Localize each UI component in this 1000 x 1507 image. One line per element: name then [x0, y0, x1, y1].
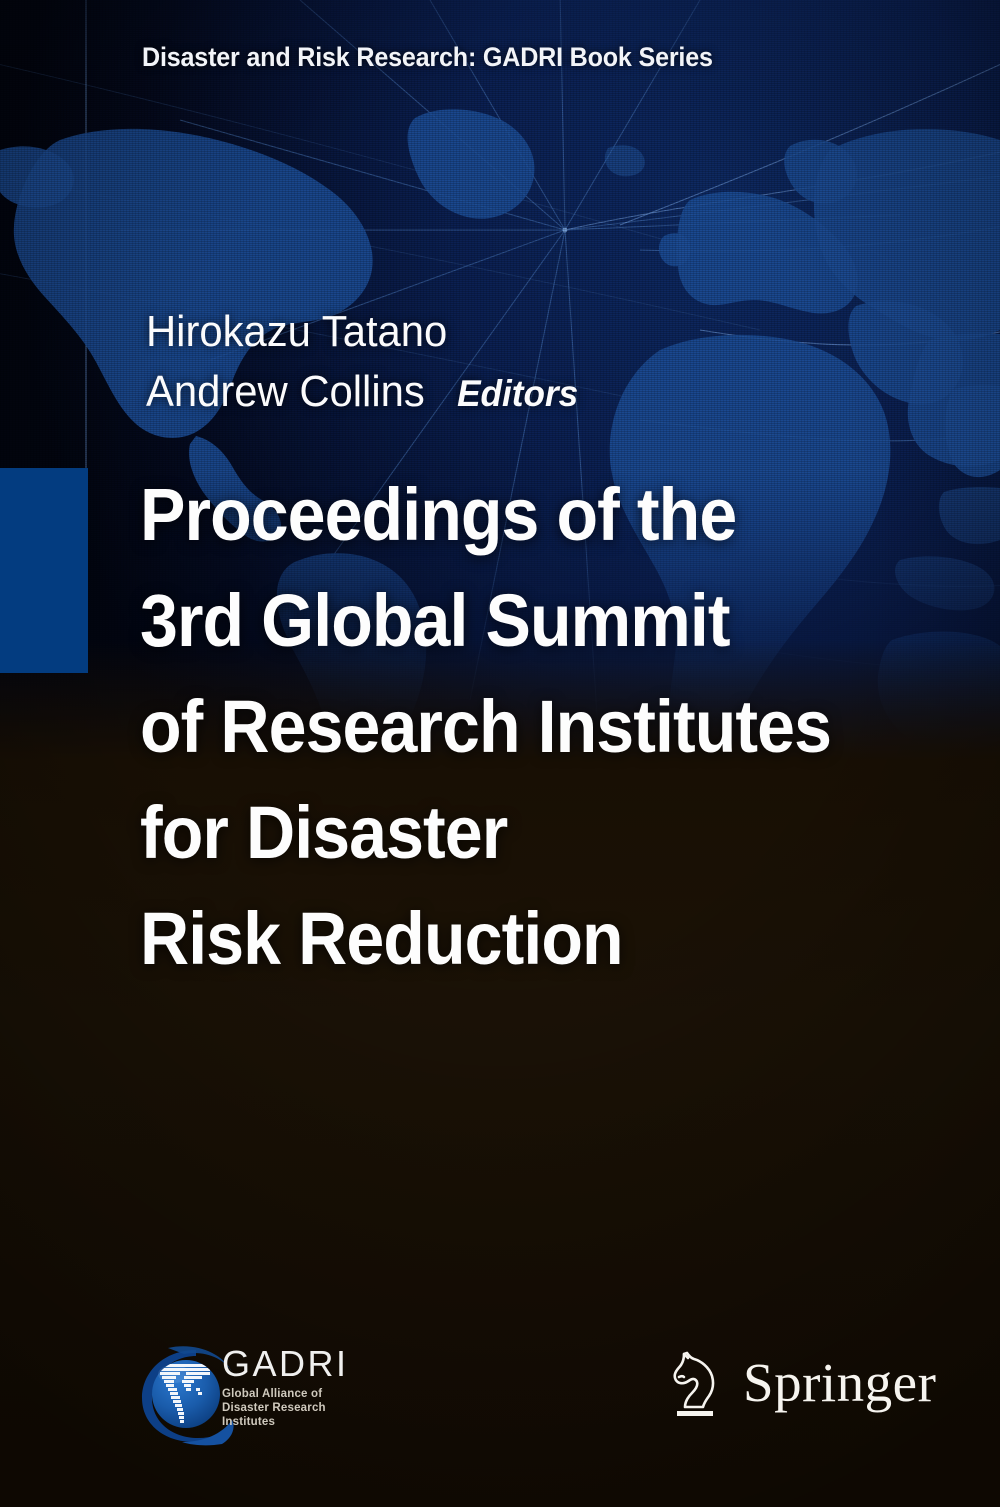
page-title: Proceedings of the 3rd Global Summit of …	[140, 462, 960, 992]
editor-name-2-row: Andrew CollinsEditors	[146, 362, 578, 424]
gadri-wordmark: GADRI	[222, 1344, 370, 1384]
gadri-tagline: Global Alliance of Disaster Research Ins…	[222, 1387, 370, 1429]
gadri-logo: GADRI Global Alliance of Disaster Resear…	[138, 1338, 370, 1450]
title-line-4: for Disaster	[140, 780, 894, 886]
editors-block: Hirokazu Tatano Andrew CollinsEditors	[146, 302, 601, 424]
title-line-3: of Research Institutes	[140, 674, 894, 780]
gadri-wordmark-block: GADRI Global Alliance of Disaster Resear…	[222, 1344, 370, 1429]
series-title: Disaster and Risk Research: GADRI Book S…	[142, 42, 713, 73]
title-line-2: 3rd Global Summit	[140, 568, 894, 674]
title-line-1: Proceedings of the	[140, 462, 894, 568]
editors-role-label: Editors	[457, 373, 578, 414]
knight-chess-piece-icon	[665, 1347, 727, 1419]
publisher-logo: Springer	[665, 1347, 910, 1437]
book-cover: Disaster and Risk Research: GADRI Book S…	[0, 0, 1000, 1507]
accent-color-block	[0, 468, 88, 673]
title-line-5: Risk Reduction	[140, 886, 894, 992]
gadri-tagline-line-2: Disaster Research Institutes	[222, 1401, 370, 1429]
gadri-tagline-line-1: Global Alliance of	[222, 1387, 370, 1401]
publisher-name: Springer	[743, 1353, 936, 1413]
editor-name-2: Andrew Collins	[146, 367, 425, 416]
editor-name-1: Hirokazu Tatano	[146, 302, 578, 362]
